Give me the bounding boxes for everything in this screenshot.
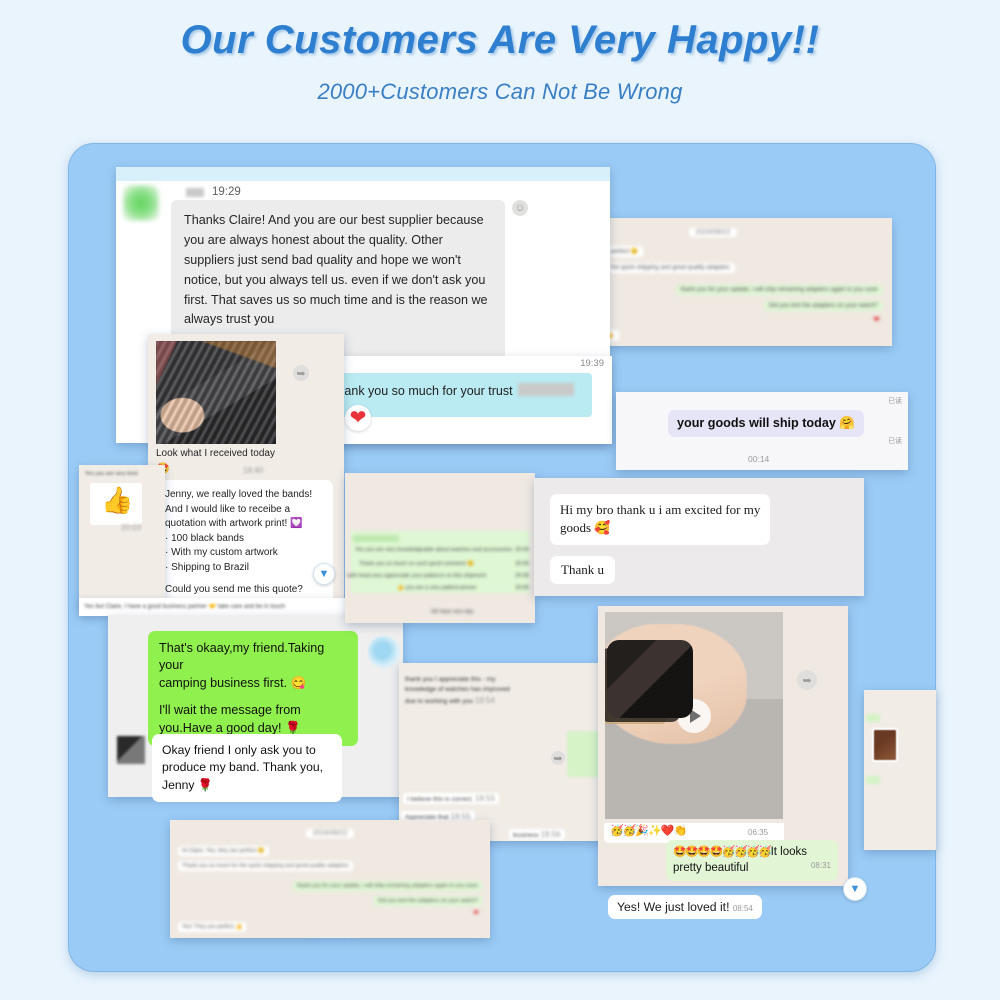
produce-band-bubble: Okay friend I only ask you to produce my… bbox=[152, 734, 342, 802]
beautiful-emojis: 🤩🤩🤩🤩🥳🥳🥳🥳 bbox=[673, 846, 771, 858]
rose-icon: 🌹 bbox=[198, 778, 213, 792]
forward-arrow-icon[interactable]: ➥ bbox=[551, 751, 565, 765]
bands-line2: And I would like to receibe a bbox=[165, 503, 324, 518]
excited-line2: goods bbox=[560, 520, 591, 535]
contact-avatar bbox=[117, 736, 145, 764]
produce-line3: Jenny bbox=[162, 778, 195, 792]
looks-beautiful-bubble: 🤩🤩🤩🤩🥳🥳🥳🥳It looks pretty beautiful 08:31 bbox=[666, 840, 838, 881]
kind-note-card[interactable]: Yes you are very kind 👍 20:03 bbox=[79, 465, 165, 607]
ship-timestamp: 00:14 bbox=[748, 454, 769, 464]
green-ts: 20:06 bbox=[515, 561, 529, 567]
trust-timestamp: 19:39 bbox=[580, 358, 604, 369]
video-timestamp: 06:35 bbox=[748, 828, 768, 837]
thank-u-bubble: Thank u bbox=[550, 556, 615, 584]
smiling-hearts-icon: 🥰 bbox=[594, 520, 610, 535]
read-status: 已读 bbox=[888, 436, 902, 446]
knowledge-line3: due to working with you bbox=[405, 698, 473, 705]
chat-date-header: 2024/06/22 bbox=[306, 829, 353, 838]
beautiful-line2: pretty beautiful bbox=[673, 862, 748, 874]
chevron-down-icon[interactable]: ▼ bbox=[313, 563, 335, 585]
hugging-face-icon: 🤗 bbox=[839, 416, 855, 430]
blurred-chat-screenshot-bottom[interactable]: 2024/06/22 Hi Claire, Yes, they are perf… bbox=[170, 820, 490, 938]
correct-text: I believe this is correct. bbox=[407, 796, 473, 803]
green-line: Ok have nice day bbox=[431, 609, 474, 615]
partner-note-card[interactable]: Yes but Claire, I have a good business p… bbox=[79, 598, 354, 616]
received-timestamp: 18:40 bbox=[243, 466, 263, 475]
page-subtitle: 2000+Customers Can Not Be Wrong bbox=[0, 79, 1000, 105]
bands-line4: Could you send me this quote? bbox=[165, 583, 324, 598]
avatar bbox=[123, 185, 159, 221]
kind-note-text: Yes you are very kind bbox=[85, 471, 137, 477]
business-text: business bbox=[513, 832, 539, 839]
sender-name-blurred bbox=[186, 188, 204, 197]
chat-line: Did you test the adapters on your watch? bbox=[374, 896, 482, 906]
green-line: with heart,very appreciate your patience… bbox=[347, 573, 486, 579]
bands-bullet3: · Shipping to Brazil bbox=[165, 561, 324, 576]
loved-it-ts: 08:54 bbox=[733, 904, 753, 913]
green-ts: 20:06 bbox=[515, 547, 529, 553]
ship-today-bubble: your goods will ship today 🤗 bbox=[668, 410, 864, 437]
knowledge-ts: 18:54 bbox=[475, 696, 495, 705]
chevron-down-icon[interactable]: ▼ bbox=[843, 877, 867, 901]
produce-line1: Okay friend I only ask you to bbox=[162, 742, 332, 759]
green-ts: 20:06 bbox=[515, 585, 529, 591]
main-review-text: Thanks Claire! And you are our best supp… bbox=[184, 213, 488, 326]
green-line: 👍 you are a very patient person bbox=[397, 585, 477, 591]
bands-line1: Jenny, we really loved the bands! bbox=[165, 488, 324, 503]
video-reaction-emojis: 🥳🥳🎉✨❤️👏 bbox=[610, 824, 686, 837]
chat-line: Did you test the adapters on your watch? bbox=[764, 301, 883, 311]
heart-ribbon-icon: 💟 bbox=[290, 518, 302, 529]
business-ts: 18:56 bbox=[540, 830, 560, 839]
rose-icon: 🌹 bbox=[285, 721, 301, 735]
chat-date-header: 2024/06/22 bbox=[689, 228, 736, 237]
excited-line1: Hi my bro thank u i am excited for my bbox=[560, 501, 760, 519]
ship-today-text: your goods will ship today bbox=[677, 416, 836, 430]
yum-face-icon: 😋 bbox=[291, 676, 307, 690]
partner-note-text: Yes but Claire, I have a good business p… bbox=[84, 603, 354, 610]
ship-today-card[interactable]: 已读 your goods will ship today 🤗 已读 00:14 bbox=[616, 392, 908, 470]
loved-it-text: Yes! We just loved it! bbox=[617, 900, 729, 914]
green-line: Yes you are very knowledgeable about wat… bbox=[355, 547, 512, 553]
chat-line: Thank you so much for the quick shipping… bbox=[178, 861, 353, 871]
forward-arrow-icon[interactable]: ➥ bbox=[293, 365, 309, 381]
kind-timestamp: 20:03 bbox=[121, 523, 141, 532]
blurred-green-panel[interactable]: Yes you are very knowledgeable about wat… bbox=[345, 473, 535, 623]
excited-goods-card[interactable]: Hi my bro thank u i am excited for my go… bbox=[534, 478, 864, 596]
produce-line2: produce my band. Thank you, bbox=[162, 759, 332, 776]
camping-line3: I'll wait the message from bbox=[159, 702, 347, 719]
photo-watch-on-wrist[interactable] bbox=[605, 612, 783, 819]
excited-goods-bubble: Hi my bro thank u i am excited for my go… bbox=[550, 494, 770, 545]
message-timestamp: 19:29 bbox=[212, 186, 241, 198]
bands-bullet2: · With my custom artwork bbox=[165, 546, 324, 561]
forward-arrow-icon[interactable]: ➥ bbox=[797, 670, 817, 690]
page-header: Our Customers Are Very Happy!! 2000+Cust… bbox=[0, 0, 1000, 105]
trust-reply-card[interactable]: 19:39 thank you so much for your trust bbox=[300, 356, 612, 444]
heart-icon: ❤ bbox=[345, 405, 371, 431]
thank-u-text: Thank u bbox=[561, 562, 604, 577]
beautiful-ts: 08:31 bbox=[811, 861, 831, 872]
beautiful-line1: It looks bbox=[771, 846, 807, 858]
bands-bullet1: · 100 black bands bbox=[165, 532, 324, 547]
knowledge-line1: thank you I appreciate this - my bbox=[405, 675, 510, 685]
chat-line: thank you for your update, i will ship r… bbox=[676, 285, 883, 295]
bands-line3: quotation with artwork print! bbox=[165, 518, 287, 529]
photo-received-bands[interactable] bbox=[156, 341, 276, 444]
camping-line2: camping business first. bbox=[159, 676, 287, 690]
chat-line: Hi Claire, Yes, they are perfect 😊 bbox=[178, 846, 269, 856]
play-icon[interactable] bbox=[677, 699, 711, 733]
emoji-face-icon[interactable]: ☺ bbox=[512, 200, 528, 216]
thumbs-up-icon: 👍 bbox=[101, 487, 133, 513]
loved-it-bubble: Yes! We just loved it! 08:54 bbox=[608, 895, 762, 919]
chat-line: Yes! They are perfect 👍 bbox=[178, 922, 246, 932]
sticker-avatar bbox=[368, 636, 400, 668]
knowledge-line2: knowledge of watches has improved bbox=[405, 685, 510, 695]
trust-reply-text: thank you so much for your trust bbox=[334, 384, 513, 398]
side-partial-card[interactable] bbox=[864, 690, 936, 850]
watch-knowledge-card[interactable]: thank you I appreciate this - my knowled… bbox=[399, 663, 629, 841]
camping-line1: That's okaay,my friend.Taking your bbox=[159, 640, 347, 675]
green-ts: 20:06 bbox=[515, 573, 529, 579]
camping-green-bubble: That's okaay,my friend.Taking your campi… bbox=[148, 631, 358, 746]
received-caption: Look what I received today bbox=[156, 448, 275, 459]
chat-line: thank you for your update, i will ship r… bbox=[293, 881, 482, 891]
green-line: Thank you so much on such good comment 😊 bbox=[359, 561, 474, 567]
correct-ts: 18:55 bbox=[475, 794, 495, 803]
read-status: 已读 bbox=[888, 396, 902, 406]
page-title: Our Customers Are Very Happy!! bbox=[0, 18, 1000, 63]
camping-line4: you.Have a good day! bbox=[159, 721, 282, 735]
